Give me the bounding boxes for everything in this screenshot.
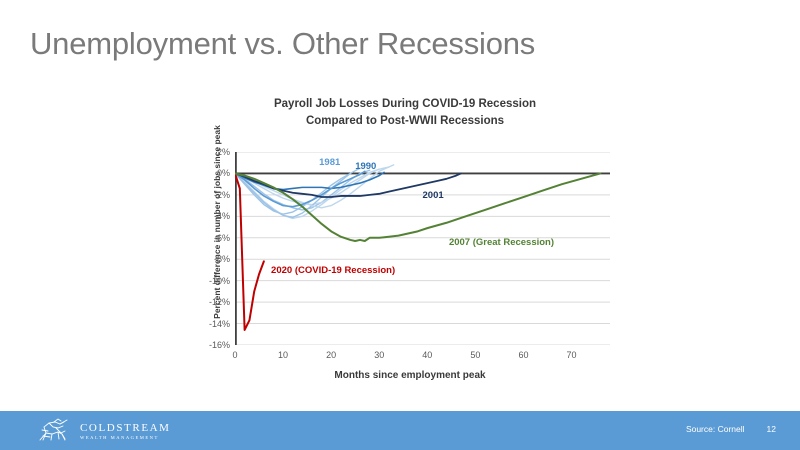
- plot-area: 2%0%-2%-4%-6%-8%-10%-12%-14%-16%01020304…: [235, 152, 610, 345]
- x-tick-label: 70: [567, 350, 577, 360]
- brand-name: COLDSTREAM: [80, 422, 171, 435]
- chart-title-line1: Payroll Job Losses During COVID-19 Reces…: [205, 96, 605, 113]
- series-annotation: 2020 (COVID-19 Recession): [271, 265, 395, 276]
- slide-footer: COLDSTREAM WEALTH MANAGEMENT Source: Cor…: [0, 411, 800, 450]
- y-tick-label: -8%: [214, 254, 230, 264]
- y-tick-label: 2%: [217, 147, 230, 157]
- brand-tagline: WEALTH MANAGEMENT: [80, 435, 171, 440]
- x-tick-label: 20: [326, 350, 336, 360]
- y-tick-label: -12%: [209, 297, 230, 307]
- chart-title: Payroll Job Losses During COVID-19 Reces…: [205, 96, 605, 130]
- x-tick-label: 0: [232, 350, 237, 360]
- chart-container: Payroll Job Losses During COVID-19 Reces…: [175, 92, 620, 392]
- x-tick-label: 50: [470, 350, 480, 360]
- x-tick-label: 60: [518, 350, 528, 360]
- footer-meta: Source: Cornell 12: [686, 424, 776, 434]
- chart-title-line2: Compared to Post-WWII Recessions: [205, 113, 605, 130]
- source-label: Source: Cornell: [686, 424, 745, 434]
- series-annotation: 2007 (Great Recession): [449, 237, 554, 248]
- x-tick-label: 40: [422, 350, 432, 360]
- brand-text: COLDSTREAM WEALTH MANAGEMENT: [80, 422, 171, 440]
- x-tick-label: 30: [374, 350, 384, 360]
- chart-svg: [235, 152, 610, 345]
- y-tick-label: -2%: [214, 190, 230, 200]
- brand-lockup: COLDSTREAM WEALTH MANAGEMENT: [34, 418, 171, 444]
- y-tick-label: 0%: [217, 168, 230, 178]
- x-tick-label: 10: [278, 350, 288, 360]
- knight-horse-logo-icon: [34, 418, 72, 444]
- y-tick-label: -6%: [214, 233, 230, 243]
- y-tick-label: -14%: [209, 319, 230, 329]
- page-number: 12: [767, 424, 776, 434]
- x-axis-title: Months since employment peak: [215, 370, 605, 381]
- y-tick-label: -10%: [209, 276, 230, 286]
- series-annotation: 1981: [319, 157, 340, 168]
- y-tick-label: -16%: [209, 340, 230, 350]
- page-title: Unemployment vs. Other Recessions: [30, 26, 535, 62]
- y-tick-label: -4%: [214, 211, 230, 221]
- series-annotation: 1990: [355, 161, 376, 172]
- series-annotation: 2001: [423, 190, 444, 201]
